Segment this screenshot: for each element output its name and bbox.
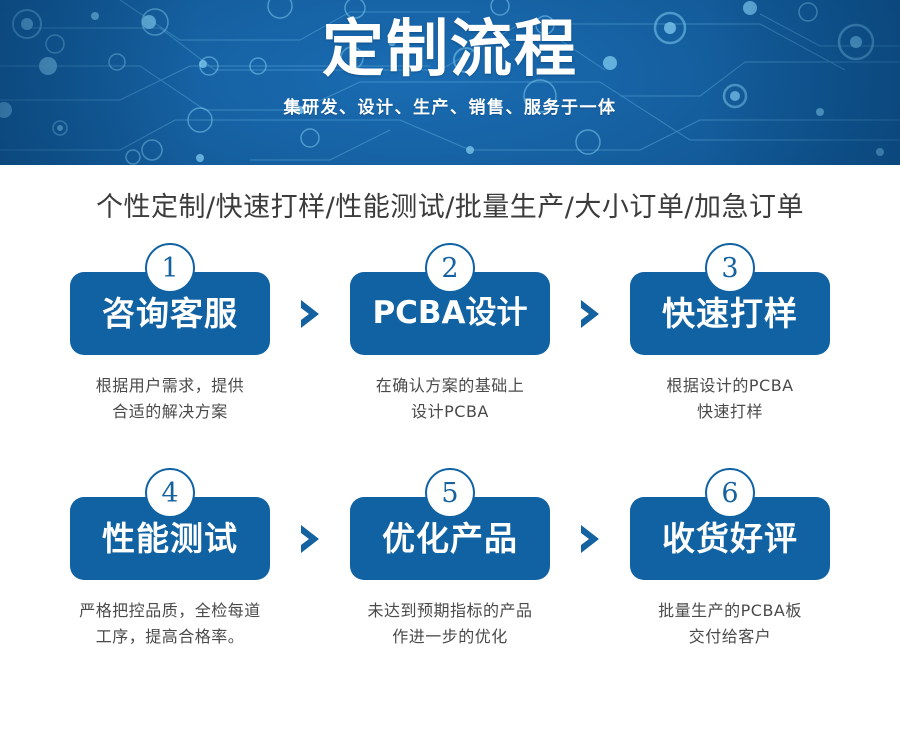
- process-step-1[interactable]: 1 咨询客服 根据用户需求，提供 合适的解决方案: [70, 243, 270, 468]
- chevron-right-icon: [294, 297, 326, 331]
- process-step-6[interactable]: 6 收货好评 批量生产的PCBA板 交付给客户: [630, 468, 830, 693]
- step-3-box[interactable]: 3 快速打样: [630, 272, 830, 355]
- step-3-desc-line1: 根据设计的PCBA: [630, 373, 830, 399]
- step-4-desc-line1: 严格把控品质，全检每道: [70, 598, 270, 624]
- step-4-number: 4: [161, 480, 178, 507]
- process-step-2[interactable]: 2 PCBA设计 在确认方案的基础上 设计PCBA: [350, 243, 550, 468]
- step-4-desc-line2: 工序，提高合格率。: [70, 624, 270, 650]
- step-4-description: 严格把控品质，全检每道 工序，提高合格率。: [70, 598, 270, 651]
- step-5-label: 优化产品: [382, 522, 518, 555]
- step-5-description: 未达到预期指标的产品 作进一步的优化: [350, 598, 550, 651]
- step-4-box[interactable]: 4 性能测试: [70, 497, 270, 580]
- step-5-box[interactable]: 5 优化产品: [350, 497, 550, 580]
- chevron-right-icon: [574, 522, 606, 556]
- process-row-2: 4 性能测试 严格把控品质，全检每道 工序，提高合格率。 5: [0, 468, 900, 693]
- step-2-number: 2: [441, 255, 458, 282]
- step-3-description: 根据设计的PCBA 快速打样: [630, 373, 830, 426]
- step-1-number-badge: 1: [145, 243, 195, 293]
- step-2-desc-line1: 在确认方案的基础上: [350, 373, 550, 399]
- step-3-number: 3: [721, 255, 738, 282]
- step-5-number: 5: [441, 480, 458, 507]
- process-step-3[interactable]: 3 快速打样 根据设计的PCBA 快速打样: [630, 243, 830, 468]
- step-2-number-badge: 2: [425, 243, 475, 293]
- step-1-box[interactable]: 1 咨询客服: [70, 272, 270, 355]
- step-5-desc-line1: 未达到预期指标的产品: [350, 598, 550, 624]
- step-2-desc-line2: 设计PCBA: [350, 399, 550, 425]
- process-step-4[interactable]: 4 性能测试 严格把控品质，全检每道 工序，提高合格率。: [70, 468, 270, 693]
- chevron-right-icon: [294, 522, 326, 556]
- step-3-number-badge: 3: [705, 243, 755, 293]
- step-1-label: 咨询客服: [102, 297, 238, 330]
- step-2-label: PCBA设计: [372, 298, 527, 329]
- step-5-number-badge: 5: [425, 468, 475, 518]
- step-1-desc-line2: 合适的解决方案: [70, 399, 270, 425]
- step-1-desc-line1: 根据用户需求，提供: [70, 373, 270, 399]
- step-4-number-badge: 4: [145, 468, 195, 518]
- page-subtitle: 集研发、设计、生产、销售、服务于一体: [284, 93, 617, 118]
- step-6-description: 批量生产的PCBA板 交付给客户: [630, 598, 830, 651]
- step-6-label: 收货好评: [662, 522, 798, 555]
- process-step-5[interactable]: 5 优化产品 未达到预期指标的产品 作进一步的优化: [350, 468, 550, 693]
- step-2-description: 在确认方案的基础上 设计PCBA: [350, 373, 550, 426]
- page-title: 定制流程: [322, 16, 578, 83]
- step-4-label: 性能测试: [102, 522, 238, 555]
- step-6-desc-line1: 批量生产的PCBA板: [630, 598, 830, 624]
- chevron-right-icon: [574, 297, 606, 331]
- tagline-text: 个性定制/快速打样/性能测试/批量生产/大小订单/加急订单: [96, 185, 804, 224]
- process-row-1: 1 咨询客服 根据用户需求，提供 合适的解决方案 2: [0, 243, 900, 468]
- step-6-number-badge: 6: [705, 468, 755, 518]
- step-1-description: 根据用户需求，提供 合适的解决方案: [70, 373, 270, 426]
- step-3-label: 快速打样: [662, 297, 798, 330]
- step-6-desc-line2: 交付给客户: [630, 624, 830, 650]
- step-1-number: 1: [161, 255, 178, 282]
- process-steps: 1 咨询客服 根据用户需求，提供 合适的解决方案 2: [0, 243, 900, 693]
- step-3-desc-line2: 快速打样: [630, 399, 830, 425]
- header-banner: 定制流程 集研发、设计、生产、销售、服务于一体: [0, 0, 900, 165]
- step-6-box[interactable]: 6 收货好评: [630, 497, 830, 580]
- customization-process-page: 定制流程 集研发、设计、生产、销售、服务于一体 个性定制/快速打样/性能测试/批…: [0, 0, 900, 755]
- step-5-desc-line2: 作进一步的优化: [350, 624, 550, 650]
- step-6-number: 6: [721, 480, 738, 507]
- step-2-box[interactable]: 2 PCBA设计: [350, 272, 550, 355]
- tagline-section: 个性定制/快速打样/性能测试/批量生产/大小订单/加急订单: [0, 165, 900, 243]
